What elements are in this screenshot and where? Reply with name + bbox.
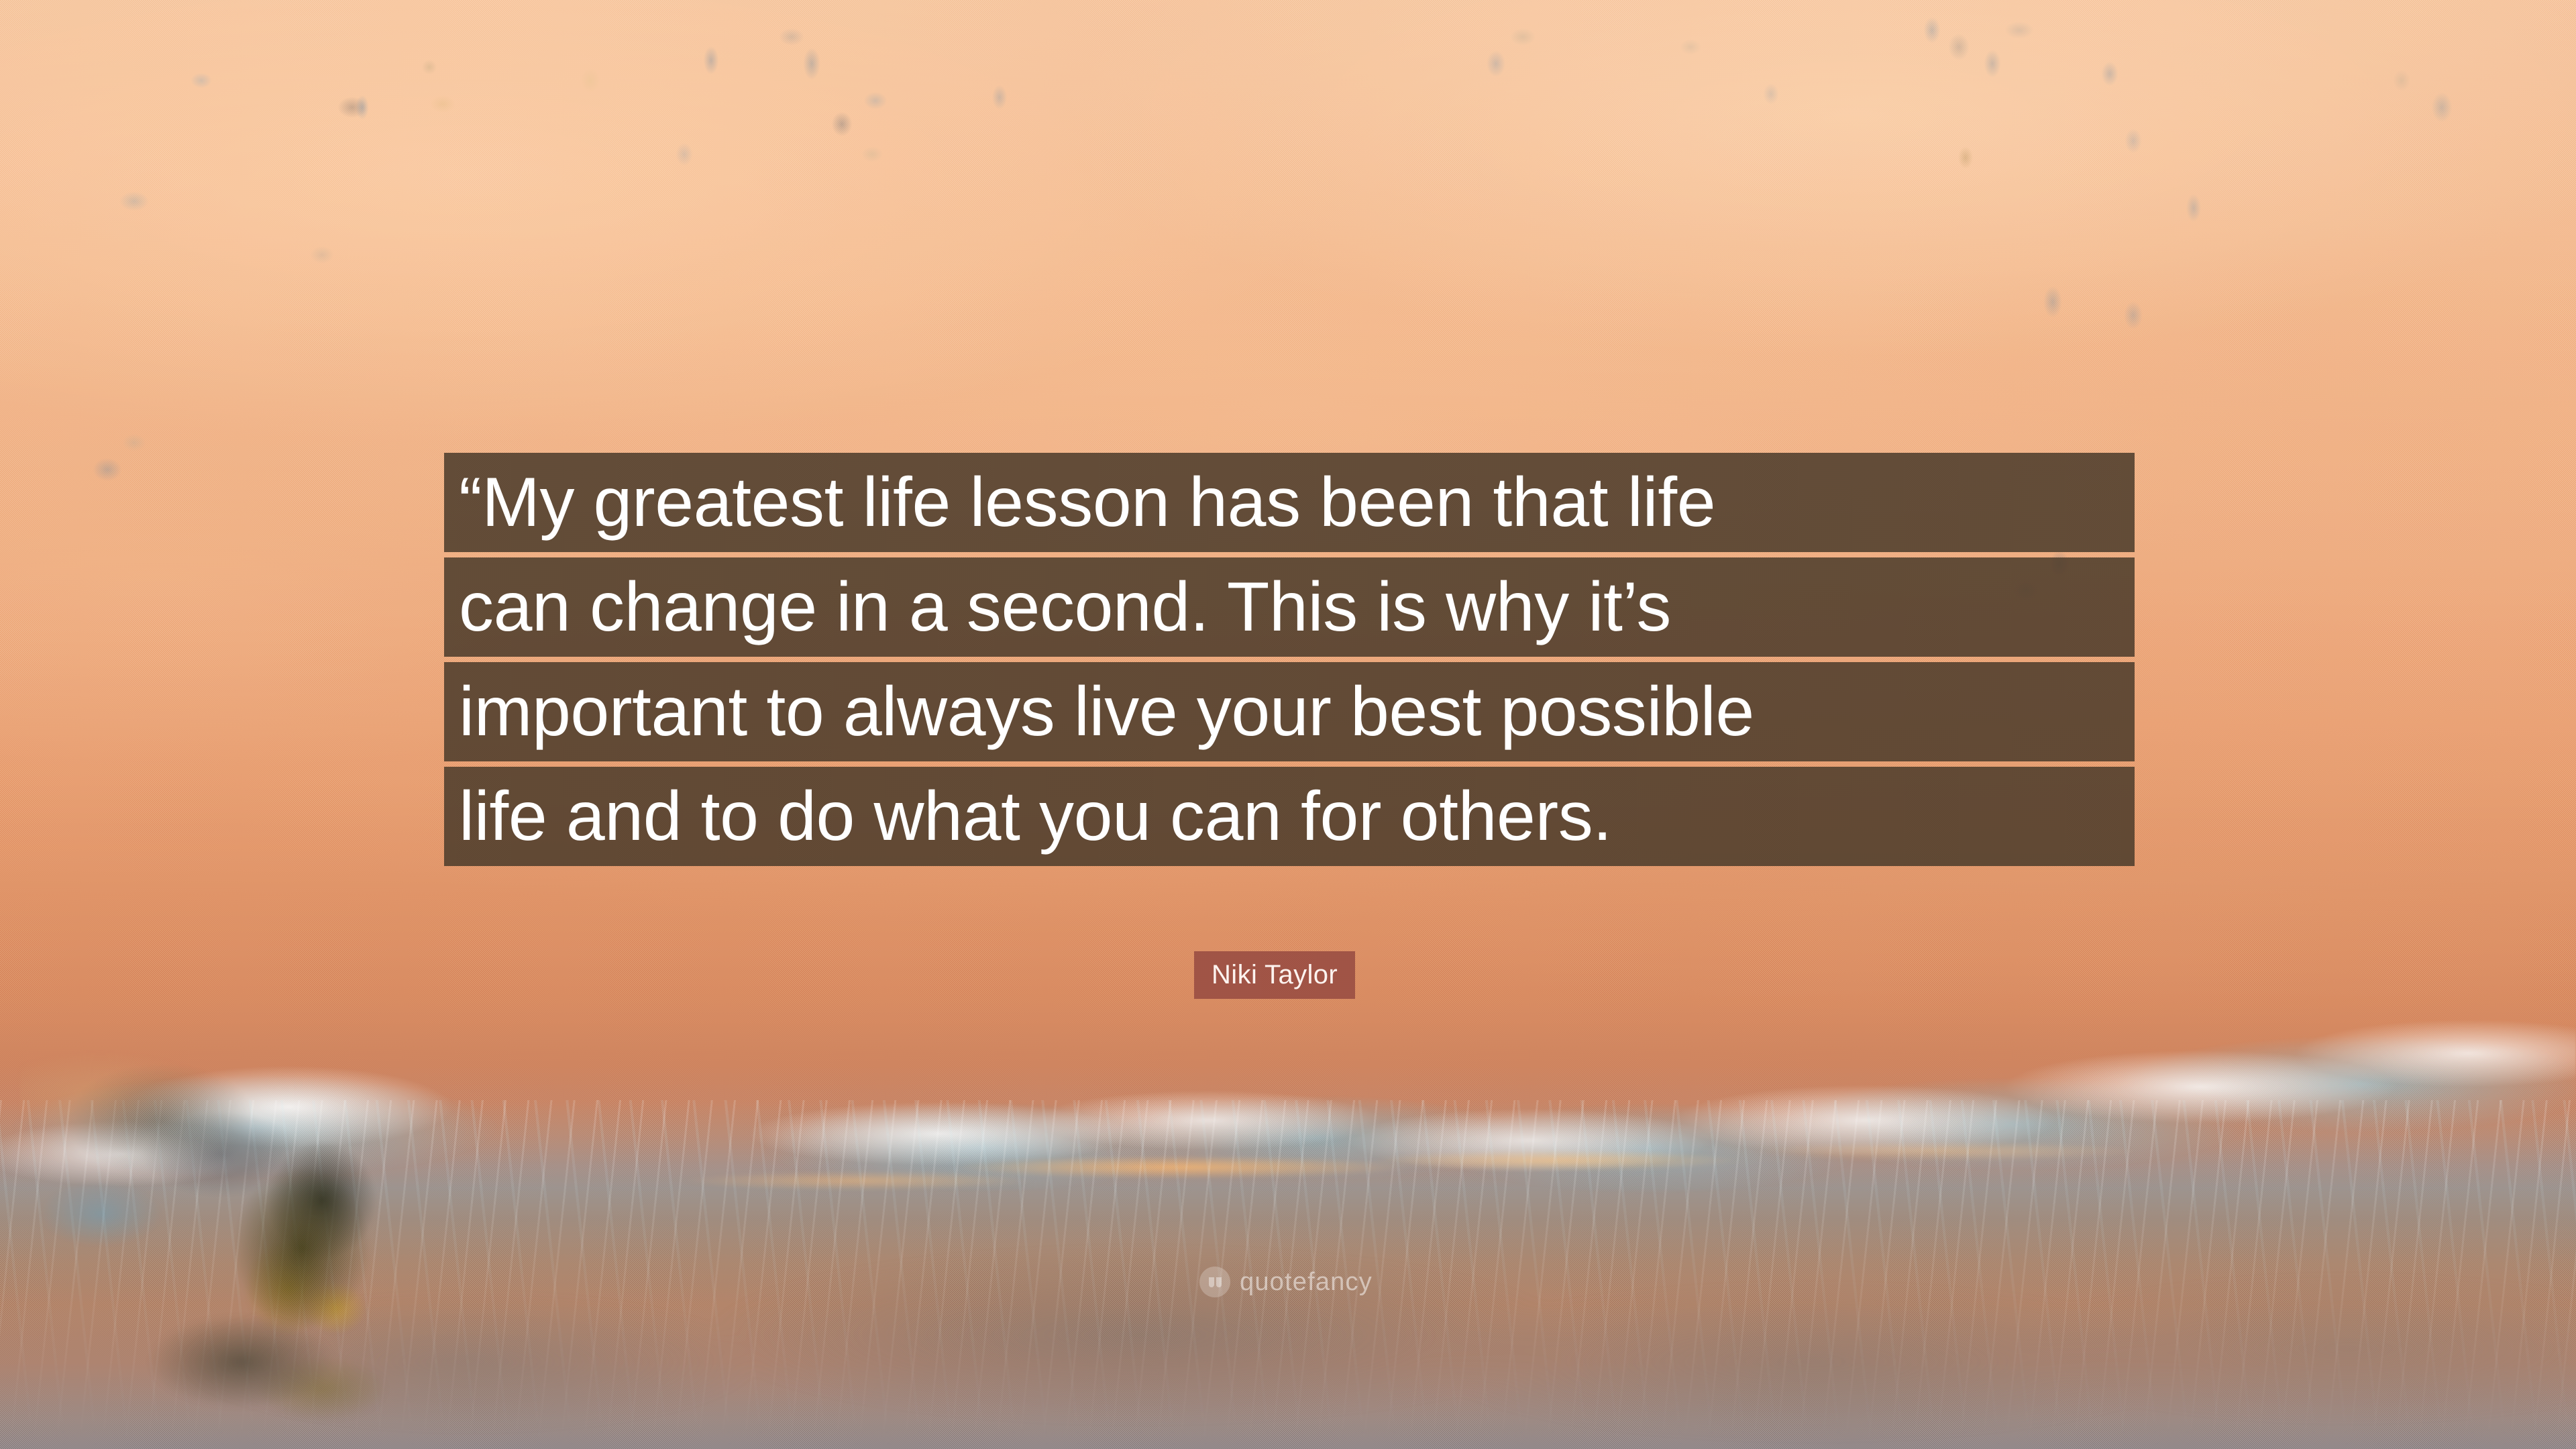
quote-line: can change in a second. This is why it’s <box>444 557 2135 657</box>
watermark: quotefancy <box>1199 1267 1373 1297</box>
quote-line: “My greatest life lesson has been that l… <box>444 453 2135 552</box>
quote-line: life and to do what you can for others. <box>444 767 2135 866</box>
quote-text-block: “My greatest life lesson has been that l… <box>444 453 2135 866</box>
watermark-brand: quotefancy <box>1240 1268 1373 1297</box>
quote-line: important to always live your best possi… <box>444 662 2135 761</box>
quote-wallpaper: “My greatest life lesson has been that l… <box>0 0 2576 1449</box>
author-name-badge: Niki Taylor <box>1194 951 1355 999</box>
quote-mark-icon <box>1199 1267 1230 1297</box>
